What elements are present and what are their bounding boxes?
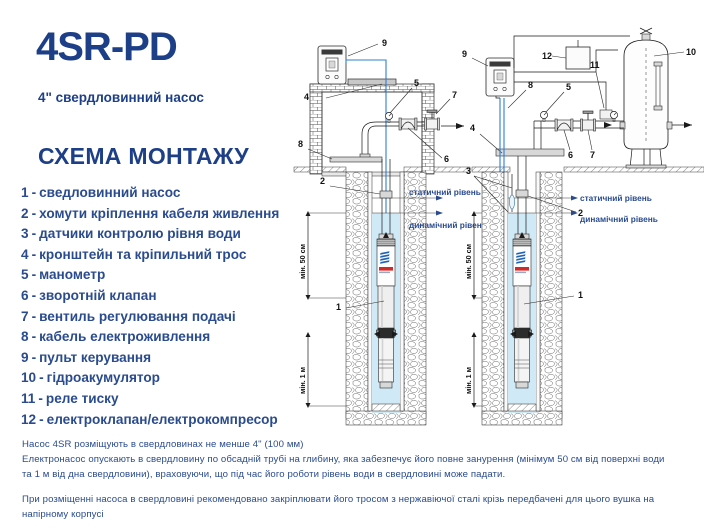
legend-label: реле тиску xyxy=(46,391,119,406)
callout-3: 3 xyxy=(466,166,471,176)
list-item: 11-реле тиску xyxy=(21,389,311,410)
dimension-label: мін. 50 см xyxy=(298,244,307,279)
diagram-left-caisson: 9 4 5 6 7 8 xyxy=(294,38,487,425)
footer-paragraph: При розміщенні насоса в свердловині реко… xyxy=(22,492,692,522)
legend-dash: - xyxy=(29,204,40,225)
list-item: 5-манометр xyxy=(21,265,311,286)
callout-2: 2 xyxy=(320,176,325,186)
callout-11: 11 xyxy=(590,60,600,70)
level-arrow-icon xyxy=(571,196,578,201)
legend-label: електроклапан/електрокомпресор xyxy=(47,412,278,427)
dimension-min-1m: мін. 1 м xyxy=(464,332,482,408)
callout-7: 7 xyxy=(452,90,457,100)
legend-number: 8 xyxy=(21,327,29,348)
ground-line xyxy=(404,167,470,172)
callout-leader xyxy=(588,130,592,150)
footer-line: напірному корпусі xyxy=(22,507,692,522)
mounting-bracket xyxy=(496,149,564,156)
dimension-label: мін. 50 см xyxy=(464,244,473,279)
flow-arrow-icon xyxy=(456,123,464,129)
scheme-heading: СХЕМА МОНТАЖУ xyxy=(38,143,249,170)
check-valve-icon xyxy=(555,119,573,131)
mounting-bracket xyxy=(330,157,382,162)
legend-dash: - xyxy=(36,368,47,389)
legend-label: хомути кріплення кабеля живлення xyxy=(39,206,279,221)
list-item: 10-гідроакумулятор xyxy=(21,368,311,389)
legend-label: вентиль регулювання подачі xyxy=(39,309,236,324)
flow-arrow-icon xyxy=(604,122,612,128)
callout-leader xyxy=(564,130,570,150)
dimension-label: мін. 1 м xyxy=(298,367,307,394)
gate-valve-icon xyxy=(581,111,596,131)
submersible-pump xyxy=(377,234,396,388)
callout-7: 7 xyxy=(590,150,595,160)
pipework xyxy=(534,121,624,152)
control-panel-icon xyxy=(486,58,514,96)
legend-label: зворотній клапан xyxy=(39,288,156,303)
legend-label: кронштейн та кріпильний трос xyxy=(39,247,246,262)
dimension-label: мін. 1 м xyxy=(464,367,473,394)
legend-number: 4 xyxy=(21,245,29,266)
callout-1: 1 xyxy=(336,302,341,312)
legend-label: гідроакумулятор xyxy=(47,370,160,385)
footer-line: Насос 4SR розміщують в свердловинах не м… xyxy=(22,437,692,452)
callout-9: 9 xyxy=(382,38,387,48)
submersible-pump xyxy=(513,234,532,388)
list-item: 3-датчики контролю рівня води xyxy=(21,224,311,245)
legend-number: 6 xyxy=(21,286,29,307)
legend-label: датчики контролю рівня води xyxy=(39,226,241,241)
callout-5: 5 xyxy=(414,78,419,88)
cable-clamp xyxy=(516,190,528,197)
dynamic-level-label: динамічний рівень xyxy=(409,220,487,230)
legend-number: 11 xyxy=(21,389,35,410)
diagram-right-accumulator: 9 12 11 xyxy=(462,28,704,425)
legend-dash: - xyxy=(36,410,47,431)
product-subtitle: 4" свердловинний насос xyxy=(38,90,204,105)
callout-2: 2 xyxy=(578,208,583,218)
callout-leader xyxy=(552,56,566,58)
callout-1: 1 xyxy=(578,290,583,300)
level-arrow-icon xyxy=(436,211,443,216)
legend-number: 10 xyxy=(21,368,36,389)
legend-number: 12 xyxy=(21,410,36,431)
cable-clamp xyxy=(380,191,392,198)
legend-label: кабель електроживлення xyxy=(39,329,210,344)
callout-9: 9 xyxy=(462,49,467,59)
list-item: 9-пульт керування xyxy=(21,348,311,369)
dimension-min-1m: мін. 1 м xyxy=(298,332,346,408)
callout-12: 12 xyxy=(542,51,552,61)
well-bottom xyxy=(508,404,536,411)
dimension-min-50cm: мін. 50 см xyxy=(298,211,346,300)
footer-line: При розміщенні насоса в свердловині реко… xyxy=(22,492,692,507)
list-item: 7-вентиль регулювання подачі xyxy=(21,307,311,328)
list-item: 6-зворотній клапан xyxy=(21,286,311,307)
legend-dash: - xyxy=(29,327,40,348)
legend-number: 3 xyxy=(21,224,29,245)
list-item: 8-кабель електроживлення xyxy=(21,327,311,348)
legend-dash: - xyxy=(29,265,40,286)
legend-number: 7 xyxy=(21,307,29,328)
callout-6: 6 xyxy=(568,150,573,160)
installation-diagrams: 9 4 5 6 7 8 xyxy=(286,16,704,431)
control-panel-icon xyxy=(318,46,346,84)
static-level-label: статичний рівень xyxy=(409,187,481,197)
legend-label: манометр xyxy=(39,267,105,282)
callout-5: 5 xyxy=(566,82,571,92)
caisson-hatch xyxy=(348,79,396,85)
list-item: 12-електроклапан/електрокомпресор xyxy=(21,410,311,431)
legend-dash: - xyxy=(29,348,40,369)
callout-leader xyxy=(596,72,604,108)
list-item: 2-хомути кріплення кабеля живлення xyxy=(21,204,311,225)
list-item: 1-сведловинний насос xyxy=(21,183,311,204)
legend-label: сведловинний насос xyxy=(39,185,180,200)
footer-notes: Насос 4SR розміщують в свердловинах не м… xyxy=(22,437,692,531)
callout-4: 8 xyxy=(298,139,303,149)
footer-line: та 1 м від дна свердловини), враховуючи,… xyxy=(22,467,692,482)
well-bottom xyxy=(372,404,400,411)
hydro-accumulator-tank xyxy=(620,28,672,168)
legend-dash: - xyxy=(29,307,40,328)
pressure-gauge-icon xyxy=(540,111,547,121)
legend-number: 5 xyxy=(21,265,29,286)
callout-8: 4 xyxy=(304,92,309,102)
callout-10: 10 xyxy=(686,47,696,57)
legend-number: 2 xyxy=(21,204,29,225)
callout-leader xyxy=(480,134,502,153)
callout-leader xyxy=(546,92,564,112)
legend-dash: - xyxy=(29,245,40,266)
flow-arrow-icon xyxy=(684,122,692,128)
legend-dash: - xyxy=(29,224,40,245)
info-panel: 4SR-PD 4" свердловинний насос СХЕМА МОНТ… xyxy=(0,0,300,430)
tank-gauge-icon xyxy=(610,111,617,121)
page-title: 4SR-PD xyxy=(36,27,177,67)
legend-number: 1 xyxy=(21,183,29,204)
callout-4: 4 xyxy=(470,123,475,133)
callout-leader xyxy=(436,99,450,114)
list-item: 4-кронштейн та кріпильний трос xyxy=(21,245,311,266)
static-level-label: статичний рівень xyxy=(580,193,652,203)
callout-8: 8 xyxy=(528,80,533,90)
legend-dash: - xyxy=(29,183,40,204)
callout-6: 6 xyxy=(444,154,449,164)
level-sensor-float xyxy=(509,195,514,209)
legend-label: пульт керування xyxy=(39,350,151,365)
legend-number: 9 xyxy=(21,348,29,369)
electro-valve-box xyxy=(566,47,590,69)
legend-dash: - xyxy=(35,389,46,410)
legend-dash: - xyxy=(29,286,40,307)
footer-paragraph: Насос 4SR розміщують в свердловинах не м… xyxy=(22,437,692,483)
callout-leader xyxy=(348,44,378,56)
footer-line: Електронасос опускають в свердловину по … xyxy=(22,452,692,467)
dynamic-level-label: динамічний рівень xyxy=(580,214,658,224)
legend-list: 1-сведловинний насос 2-хомути кріплення … xyxy=(21,183,311,430)
